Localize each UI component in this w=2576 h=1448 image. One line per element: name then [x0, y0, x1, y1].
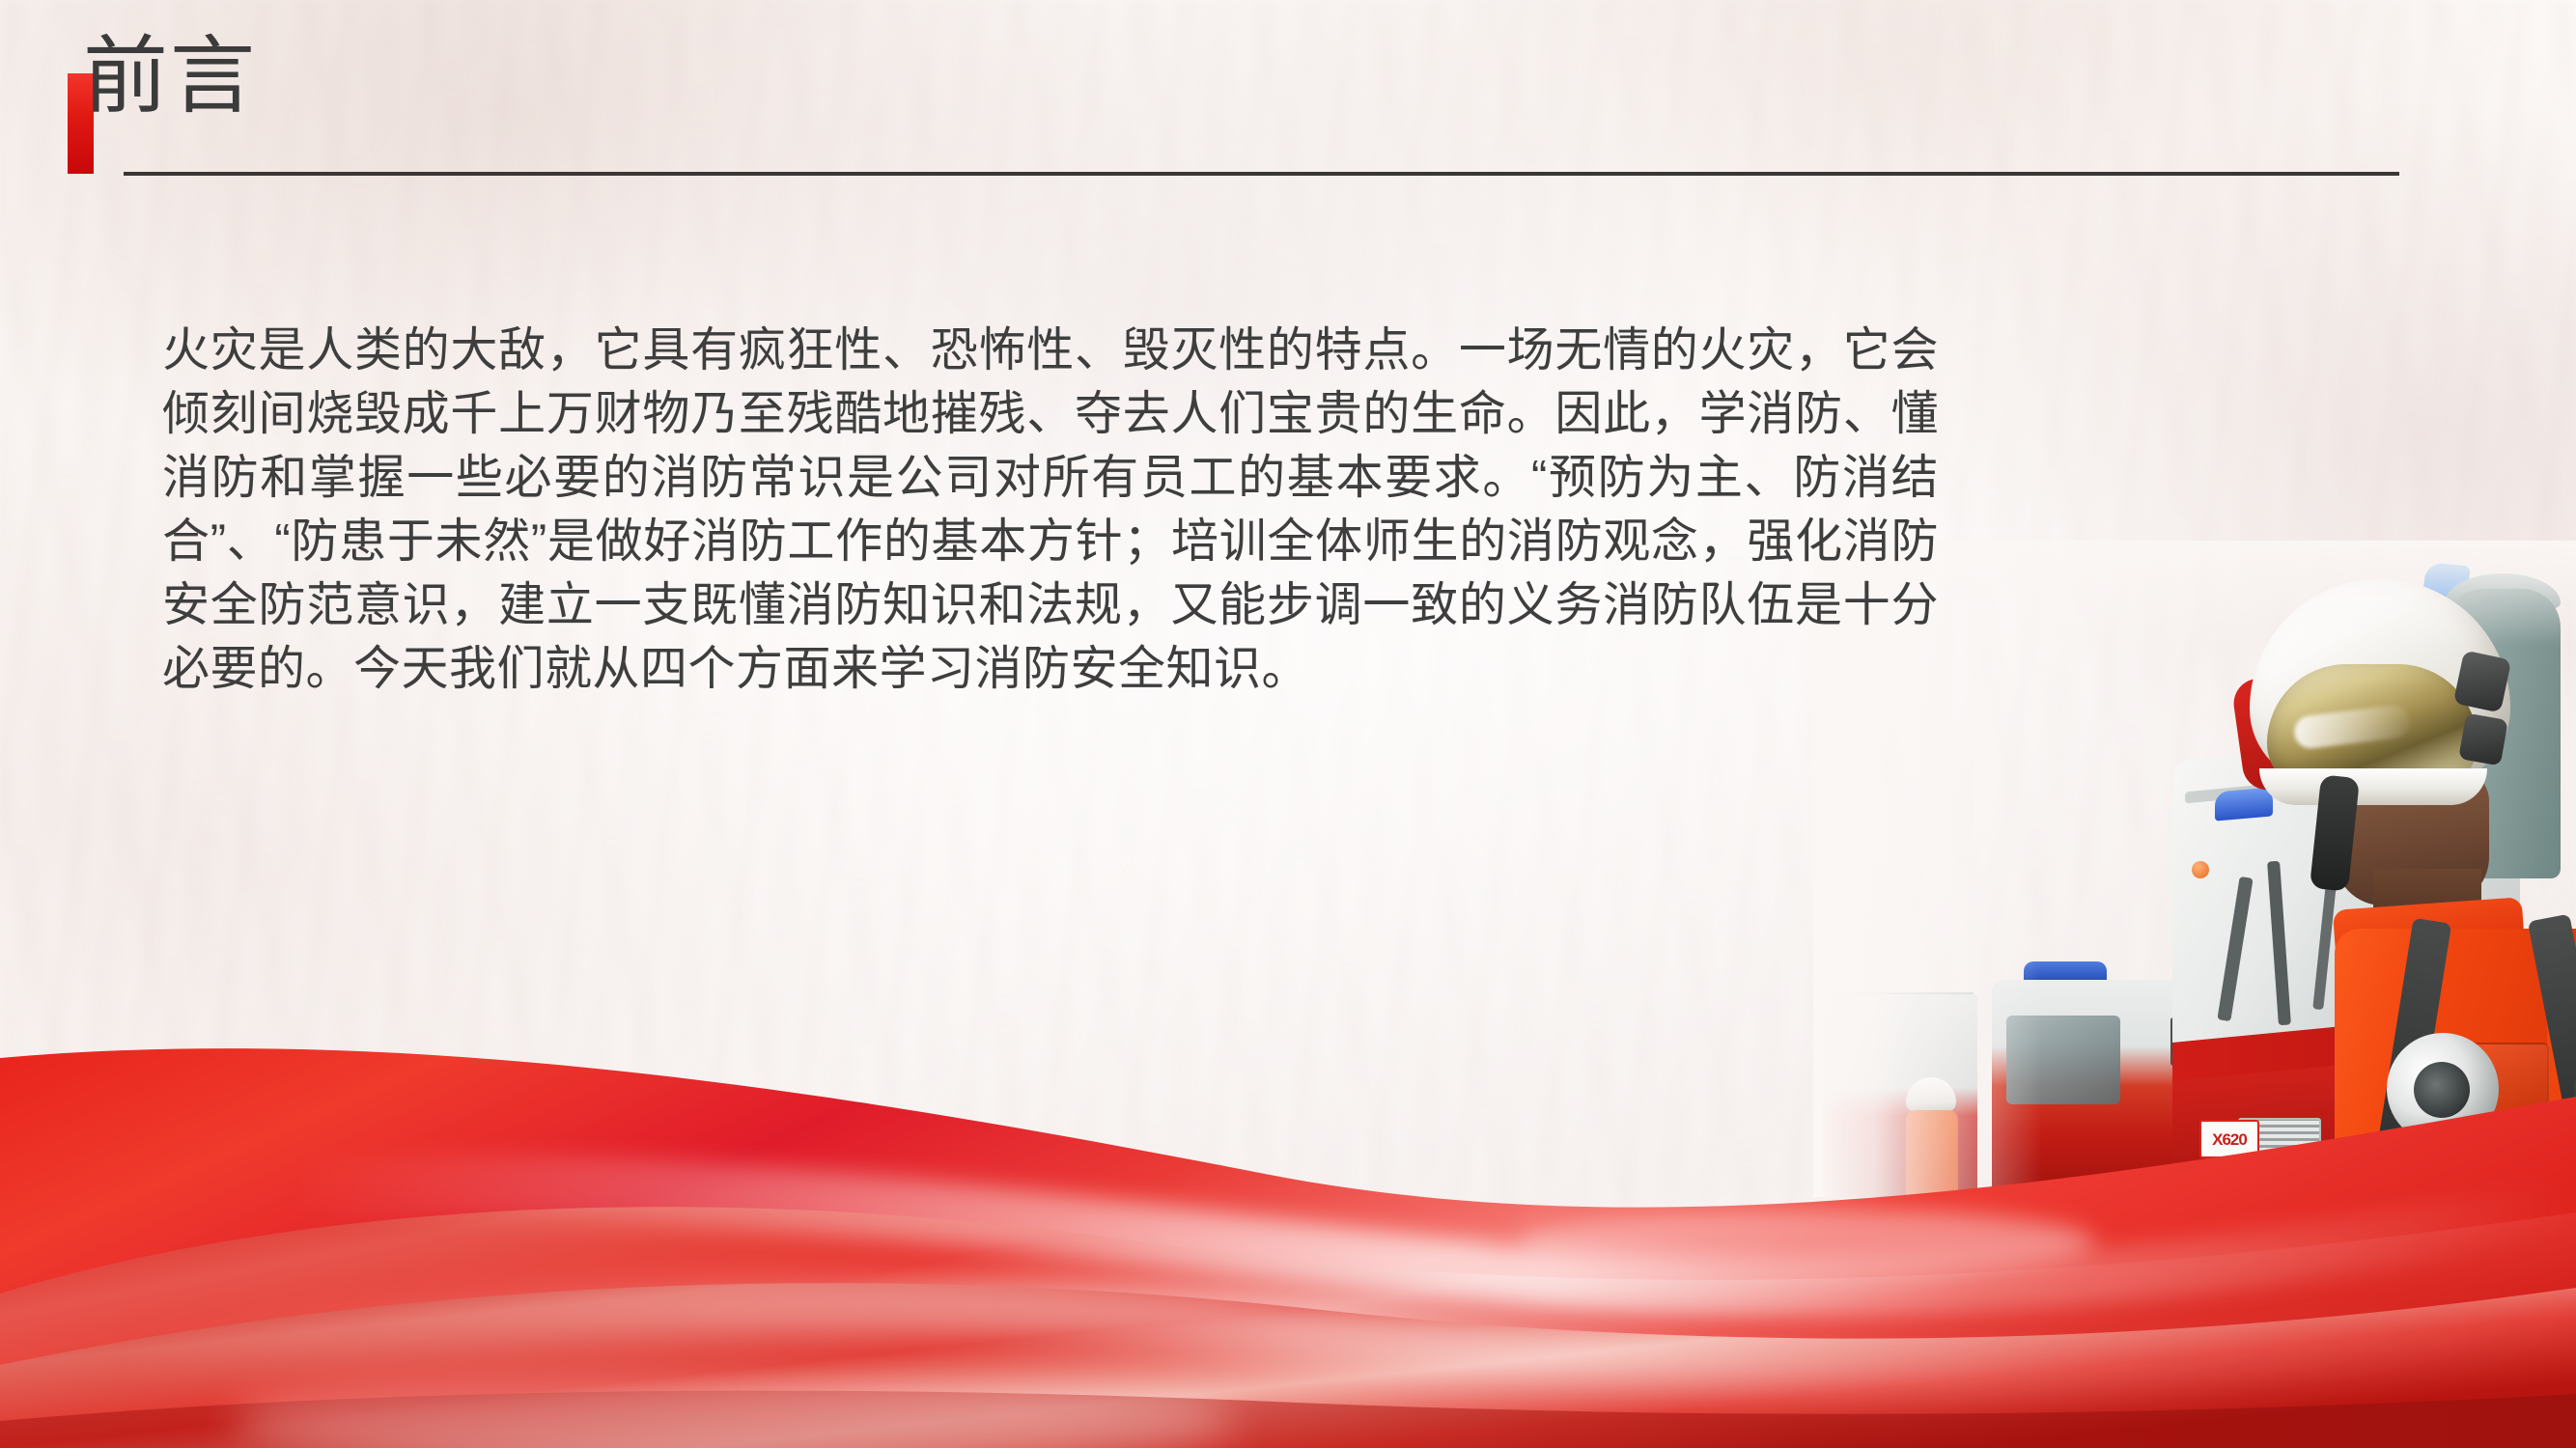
title-divider-rule	[124, 172, 2399, 176]
fire-engine-marker-light	[2192, 861, 2209, 878]
fire-truck-windshield	[2006, 1016, 2120, 1104]
body-paragraph: 火灾是人类的大敌，它具有疯狂性、恐怖性、毁灭性的特点。一场无情的火灾，它会倾刻间…	[162, 319, 1939, 701]
firefighter-visor-rim	[2259, 768, 2487, 805]
firefighter-helmet-clip	[2458, 713, 2508, 766]
license-plate: X620	[2199, 1120, 2259, 1158]
page-title: 前言	[83, 34, 257, 119]
slide-root: 前言 火灾是人类的大敌，它具有疯狂性、恐怖性、毁灭性的特点。一场无情的火灾，它会…	[0, 0, 2576, 1448]
slide-header: 前言	[0, 0, 2576, 212]
fire-engine-beacon-icon	[2215, 787, 2273, 821]
firefighter-hand	[2476, 1147, 2576, 1197]
distant-firefighter-body	[1906, 1110, 1958, 1197]
